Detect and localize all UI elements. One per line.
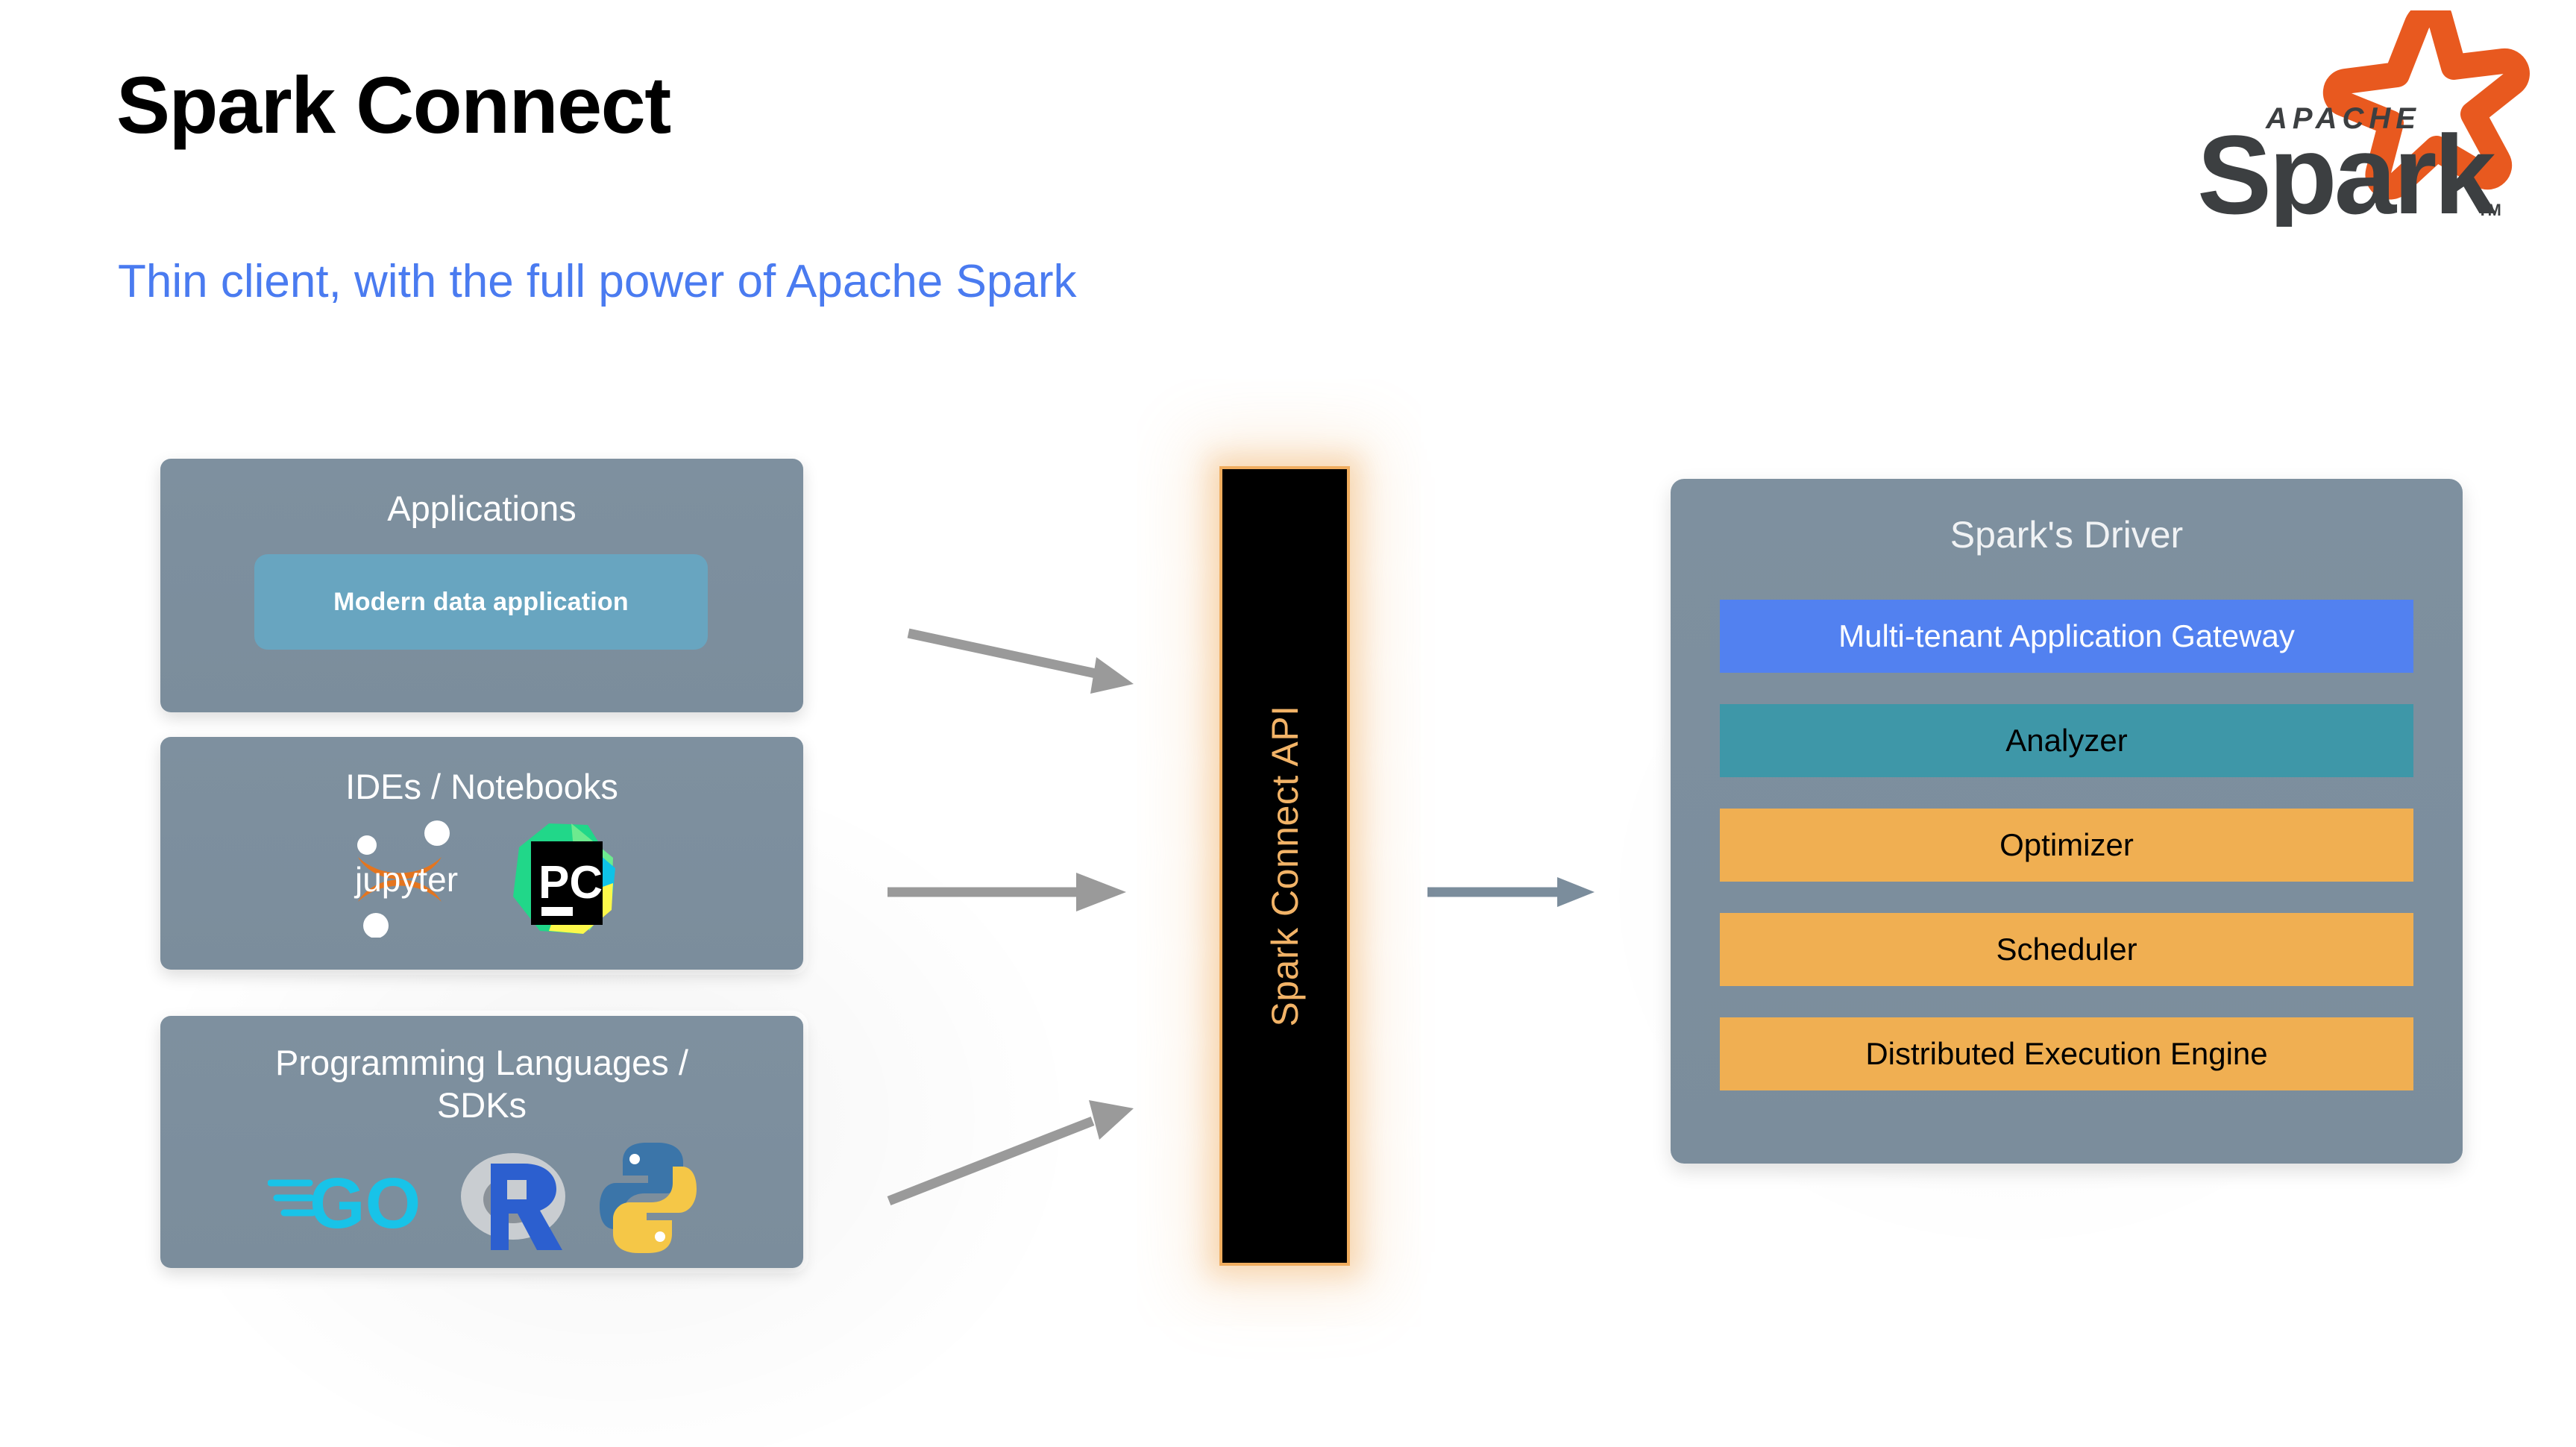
client-box-title: Programming Languages / SDKs bbox=[160, 1016, 803, 1127]
client-box-title-line2: SDKs bbox=[160, 1084, 803, 1126]
spark-wordmark: Spark bbox=[2197, 112, 2496, 227]
driver-layer-scheduler[interactable]: Scheduler bbox=[1720, 913, 2413, 986]
page-title: Spark Connect bbox=[116, 58, 670, 151]
jupyter-logo-icon: jupyter bbox=[345, 820, 473, 938]
svg-text:PC: PC bbox=[538, 857, 603, 908]
client-box-title-line1: Programming Languages / bbox=[160, 1041, 803, 1084]
arrow-ides-to-api bbox=[888, 873, 1126, 911]
client-box-ides-notebooks[interactable]: IDEs / Notebooks jupyter PC bbox=[160, 737, 803, 970]
spark-connect-api-bar[interactable]: Spark Connect API bbox=[1219, 466, 1350, 1266]
arrow-api-to-driver bbox=[1427, 877, 1595, 907]
svg-text:GO: GO bbox=[310, 1164, 421, 1243]
page-subtitle: Thin client, with the full power of Apac… bbox=[118, 255, 1076, 308]
spark-driver-title: Spark's Driver bbox=[1671, 479, 2463, 556]
python-logo-icon bbox=[598, 1141, 697, 1255]
go-logo-icon: GO bbox=[268, 1153, 428, 1243]
driver-layer-stack: Multi-tenant Application Gateway Analyze… bbox=[1720, 600, 2413, 1090]
client-box-title: Applications bbox=[160, 459, 803, 530]
driver-layer-analyzer[interactable]: Analyzer bbox=[1720, 704, 2413, 777]
trademark-symbol: TM bbox=[2478, 201, 2501, 219]
spark-driver-panel[interactable]: Spark's Driver Multi-tenant Application … bbox=[1671, 479, 2463, 1164]
pycharm-logo-icon: PC bbox=[500, 819, 619, 938]
arrow-applications-to-api bbox=[908, 633, 1134, 694]
r-logo-icon bbox=[458, 1143, 568, 1253]
client-box-title: IDEs / Notebooks bbox=[160, 737, 803, 808]
driver-layer-optimizer[interactable]: Optimizer bbox=[1720, 809, 2413, 882]
svg-text:jupyter: jupyter bbox=[354, 860, 458, 899]
language-logo-row: GO bbox=[160, 1141, 803, 1255]
client-box-programming-languages-sdks[interactable]: Programming Languages / SDKs GO bbox=[160, 1016, 803, 1268]
driver-layer-distributed-execution-engine[interactable]: Distributed Execution Engine bbox=[1720, 1017, 2413, 1090]
driver-layer-multi-tenant-application-gateway[interactable]: Multi-tenant Application Gateway bbox=[1720, 600, 2413, 673]
apache-spark-logo: APACHE Spark TM bbox=[2152, 10, 2540, 227]
ide-logo-row: jupyter PC bbox=[160, 819, 803, 938]
arrow-languages-to-api bbox=[889, 1100, 1134, 1201]
client-box-applications[interactable]: Applications Modern data application bbox=[160, 459, 803, 712]
svg-text:Spark: Spark bbox=[2197, 112, 2496, 227]
spark-connect-api-label: Spark Connect API bbox=[1263, 706, 1307, 1027]
modern-data-application-pill[interactable]: Modern data application bbox=[254, 554, 708, 650]
